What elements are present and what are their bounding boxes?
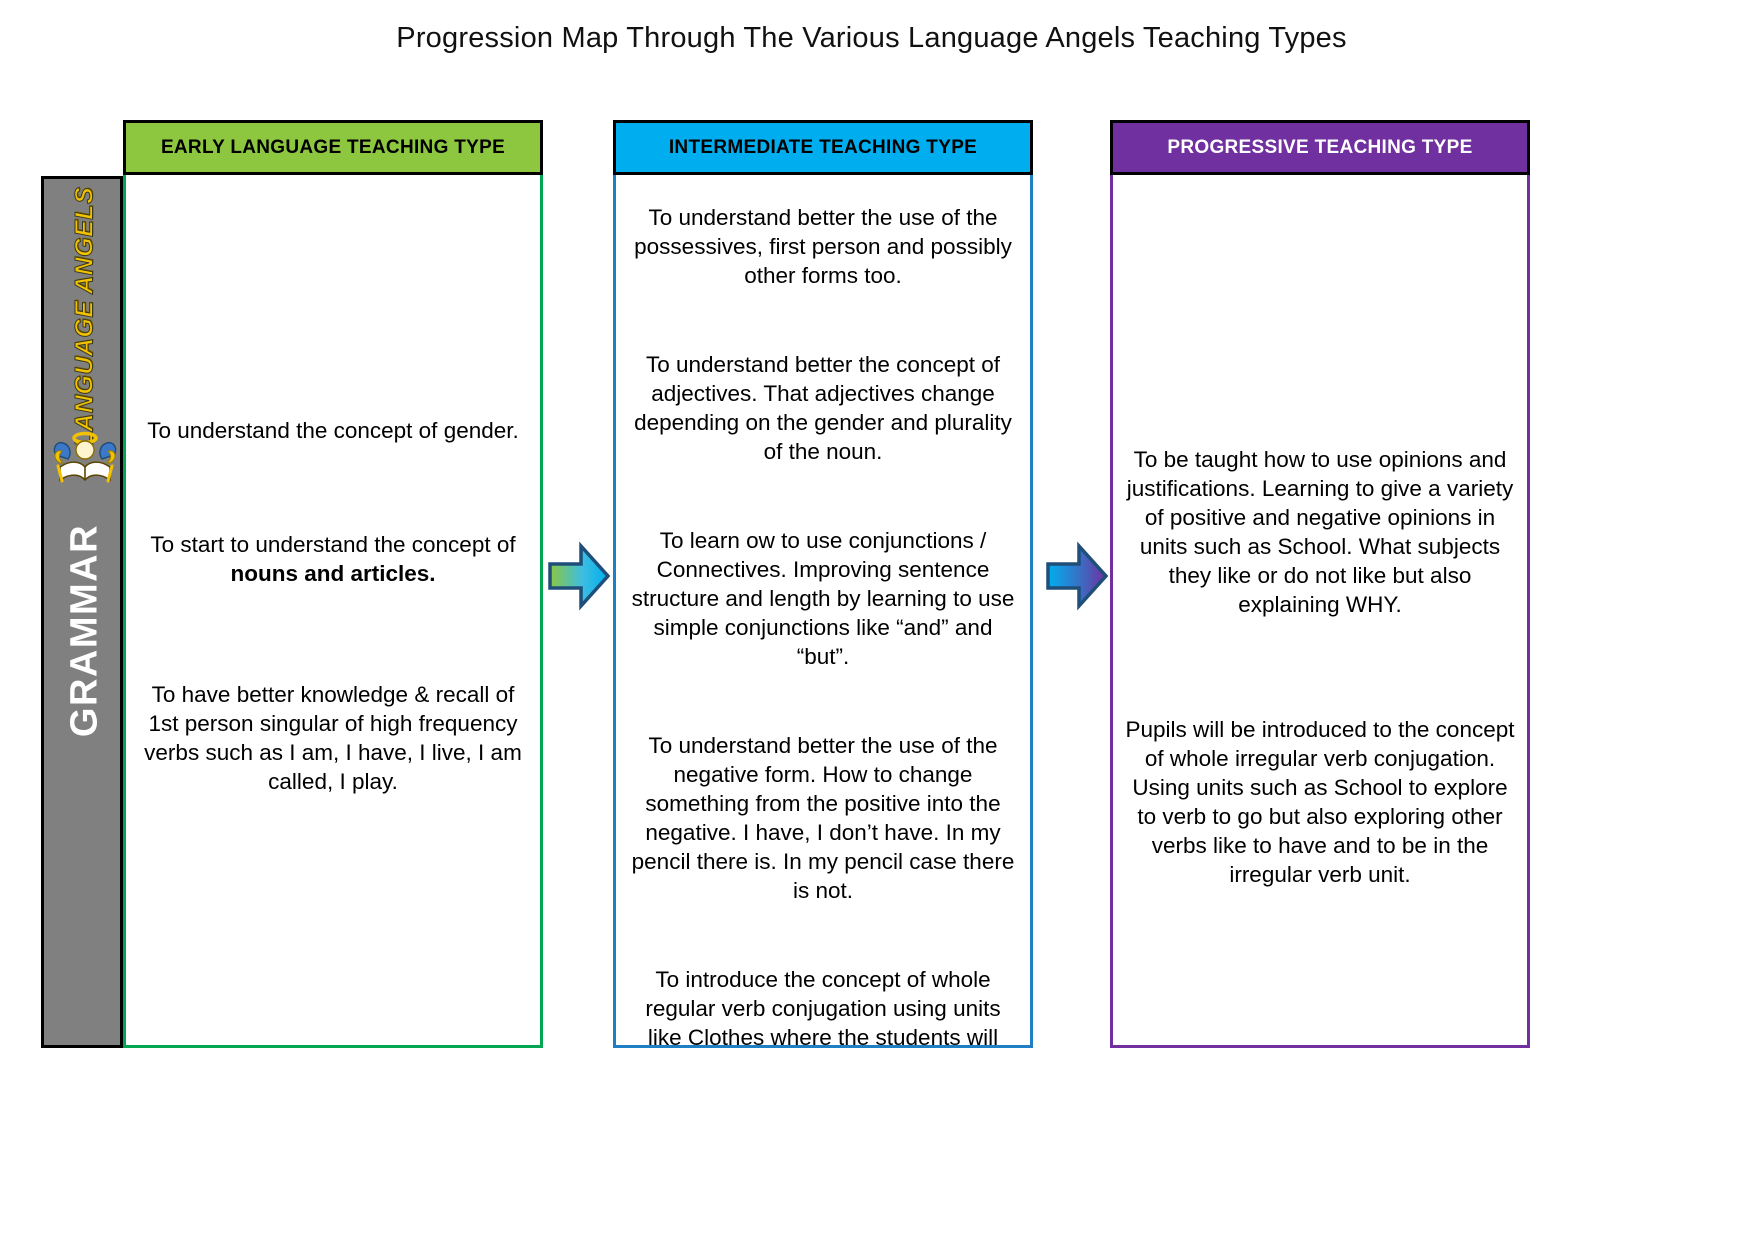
column-early-language: EARLY LANGUAGE TEACHING TYPE To understa… [123,120,543,1048]
arrow-intermediate-to-progressive-icon [1046,540,1108,612]
column-header-progressive: PROGRESSIVE TEACHING TYPE [1110,120,1530,175]
arrow-early-to-intermediate-icon [548,540,610,612]
column-progressive: PROGRESSIVE TEACHING TYPE To be taught h… [1110,120,1530,1048]
column-body-intermediate: To understand better the use of the poss… [613,175,1033,1048]
intermediate-item-5: To introduce the concept of whole regula… [626,965,1020,1048]
page-title: Progression Map Through The Various Lang… [0,22,1743,55]
grammar-sidebar: LANGUAGE ANGELS GRAMMAR [41,176,123,1048]
progressive-item-1: To be taught how to use opinions and jus… [1123,445,1517,619]
column-body-progressive: To be taught how to use opinions and jus… [1110,175,1530,1048]
angel-book-icon [50,425,120,487]
column-header-intermediate: INTERMEDIATE TEACHING TYPE [613,120,1033,175]
early-item-3: To have better knowledge & recall of 1st… [136,680,530,796]
intermediate-item-4: To understand better the use of the nega… [626,731,1020,905]
column-body-early: To understand the concept of gender. To … [123,175,543,1048]
progressive-item-2: Pupils will be introduced to the concept… [1123,715,1517,889]
intermediate-item-3: To learn ow to use conjunctions / Connec… [626,526,1020,671]
grammar-category-label: GRAMMAR [64,496,107,766]
column-header-early: EARLY LANGUAGE TEACHING TYPE [123,120,543,175]
intermediate-item-2: To understand better the concept of adje… [626,350,1020,466]
logo-text: LANGUAGE ANGELS [71,248,100,448]
language-angels-logo: LANGUAGE ANGELS [44,193,123,493]
early-item-2: To start to understand the concept of no… [136,530,530,588]
column-intermediate: INTERMEDIATE TEACHING TYPE To understand… [613,120,1033,1048]
early-item-1: To understand the concept of gender. [136,416,530,445]
intermediate-item-1: To understand better the use of the poss… [626,203,1020,290]
